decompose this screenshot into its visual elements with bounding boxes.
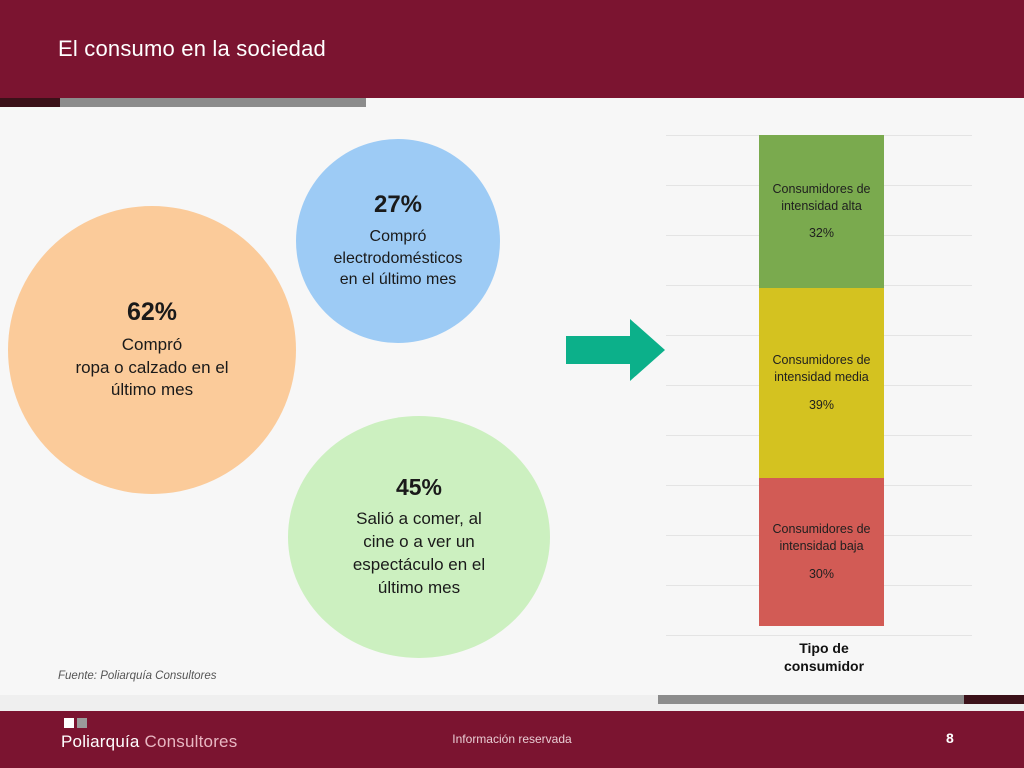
- bar-segment-alta-label: Consumidores de intensidad alta: [773, 181, 871, 215]
- footer-center-text: Información reservada: [0, 732, 1024, 746]
- bar-segment-intensidad-media: Consumidores de intensidad media 39%: [759, 288, 884, 478]
- logo-squares-icon: [64, 718, 90, 728]
- bar-segment-media-value: 39%: [809, 397, 834, 414]
- header-accent-dark: [0, 98, 60, 107]
- bubble-ropa-percent: 62%: [127, 298, 177, 327]
- arrow-right-icon: [566, 319, 666, 381]
- bubble-ropa-text: Compró ropa o calzado en el último mes: [75, 334, 228, 403]
- slide: El consumo en la sociedad 62% Compró rop…: [0, 0, 1024, 768]
- bar-segment-media-label: Consumidores de intensidad media: [773, 352, 871, 386]
- bubble-salidas-text: Salió a comer, al cine o a ver un espect…: [353, 508, 485, 600]
- footer-accent-dark: [964, 695, 1024, 704]
- bubble-salidas: 45% Salió a comer, al cine o a ver un es…: [288, 416, 550, 658]
- slide-body: 62% Compró ropa o calzado en el último m…: [0, 107, 1024, 695]
- bubble-salidas-percent: 45%: [396, 474, 442, 501]
- bubble-electrodomesticos: 27% Compró electrodomésticos en el últim…: [296, 139, 500, 343]
- stacked-bar-chart: Consumidores de intensidad alta 32% Cons…: [666, 135, 972, 635]
- bar-segment-alta-value: 32%: [809, 225, 834, 242]
- bubble-electrodomesticos-percent: 27%: [374, 191, 422, 219]
- bar-segment-intensidad-baja: Consumidores de intensidad baja 30%: [759, 478, 884, 626]
- source-note: Fuente: Poliarquía Consultores: [58, 670, 217, 682]
- header-accent-gray: [60, 98, 366, 107]
- page-number: 8: [946, 730, 954, 746]
- bubble-ropa-calzado: 62% Compró ropa o calzado en el último m…: [8, 206, 296, 494]
- footer-accent-gray: [658, 695, 964, 704]
- bar-segment-intensidad-alta: Consumidores de intensidad alta 32%: [759, 135, 884, 288]
- bar-segment-baja-value: 30%: [809, 566, 834, 583]
- bar-segment-baja-label: Consumidores de intensidad baja: [773, 521, 871, 555]
- page-title: El consumo en la sociedad: [58, 36, 326, 62]
- chart-axis-title: Tipo de consumidor: [759, 640, 889, 675]
- bubble-electrodomesticos-text: Compró electrodomésticos en el último me…: [334, 226, 463, 291]
